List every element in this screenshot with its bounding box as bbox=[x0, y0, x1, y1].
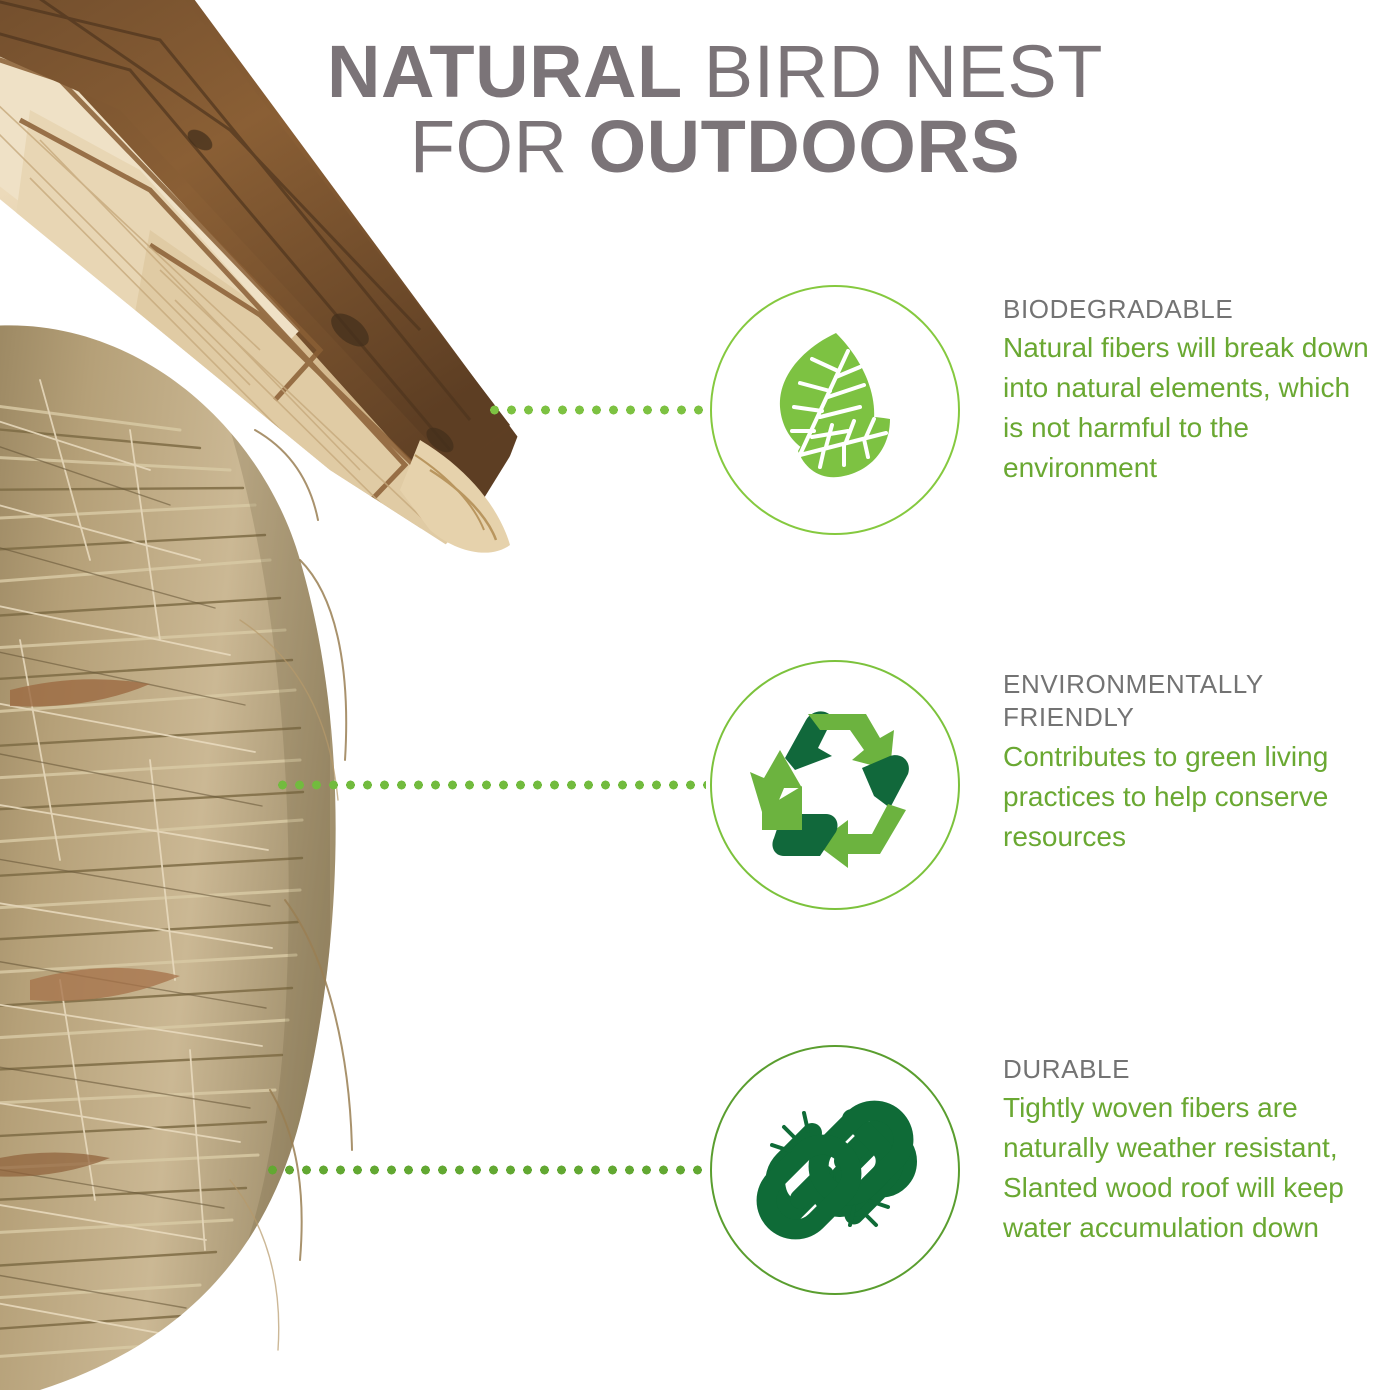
bird-nest-illustration bbox=[0, 0, 560, 1400]
feature-text-biodegradable: BIODEGRADABLE Natural fibers will break … bbox=[1003, 293, 1375, 488]
feature-text-durable: DURABLE Tightly woven fibers are natural… bbox=[1003, 1053, 1375, 1248]
feature-body: Contributes to green living practices to… bbox=[1003, 737, 1375, 857]
title-for: FOR bbox=[410, 105, 568, 188]
feature-heading: BIODEGRADABLE bbox=[1003, 293, 1375, 326]
title-bird-nest: BIRD NEST bbox=[704, 30, 1103, 113]
feature-text-environmentally-friendly: ENVIRONMENTALLY FRIENDLY Contributes to … bbox=[1003, 668, 1375, 857]
connector-dotted-line-3 bbox=[268, 1165, 706, 1175]
feature-body: Natural fibers will break down into natu… bbox=[1003, 328, 1375, 488]
feature-heading: ENVIRONMENTALLY FRIENDLY bbox=[1003, 668, 1375, 735]
page-title: NATURAL BIRD NEST FOR OUTDOORS bbox=[300, 34, 1130, 185]
icon-badge-environmentally-friendly bbox=[710, 660, 960, 910]
connector-dotted-line-1 bbox=[490, 405, 705, 415]
chain-link-icon bbox=[740, 1075, 930, 1265]
icon-badge-durable bbox=[710, 1045, 960, 1295]
title-line-2: FOR OUTDOORS bbox=[300, 109, 1130, 184]
connector-dotted-line-2 bbox=[278, 780, 706, 790]
title-outdoors: OUTDOORS bbox=[589, 105, 1021, 188]
recycle-icon bbox=[740, 690, 930, 880]
leaf-icon bbox=[740, 315, 930, 505]
title-natural: NATURAL bbox=[327, 30, 683, 113]
product-photo bbox=[0, 0, 560, 1400]
feature-heading: DURABLE bbox=[1003, 1053, 1375, 1086]
icon-badge-biodegradable bbox=[710, 285, 960, 535]
title-line-1: NATURAL BIRD NEST bbox=[300, 34, 1130, 109]
feature-body: Tightly woven fibers are naturally weath… bbox=[1003, 1088, 1375, 1248]
